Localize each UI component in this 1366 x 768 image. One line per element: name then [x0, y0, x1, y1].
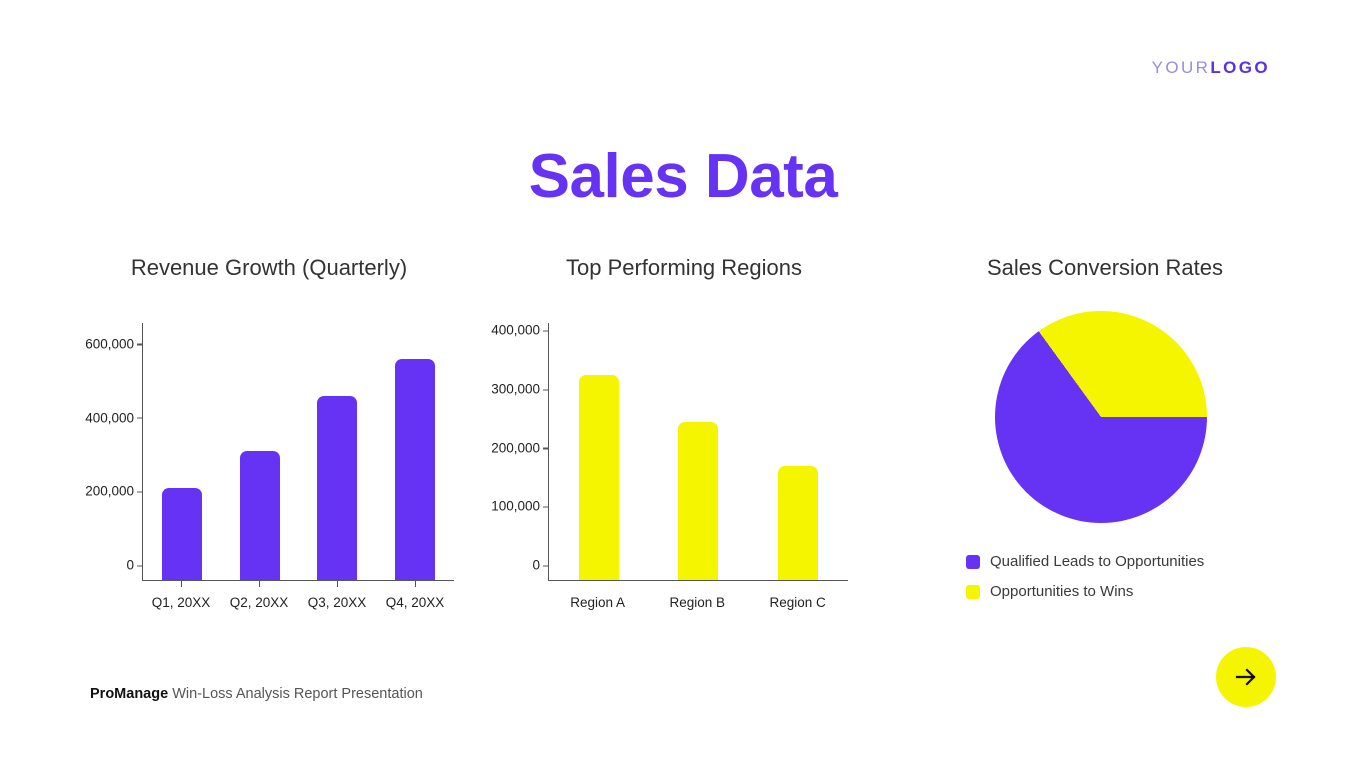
arrow-right-icon — [1233, 664, 1259, 690]
legend-swatch — [966, 585, 980, 599]
pie-slices — [995, 311, 1207, 523]
bar — [778, 466, 818, 580]
bar-series-revenue — [143, 323, 454, 580]
y-tick-label: 400,000 — [85, 410, 143, 425]
bar-chart-top-regions: 0100,000200,000300,000400,000 Region ARe… — [474, 323, 894, 623]
bar — [317, 396, 357, 580]
x-tick-label: Q2, 20XX — [230, 581, 289, 610]
y-tick-label: 100,000 — [491, 499, 549, 514]
chart-title-conversion-rates: Sales Conversion Rates — [930, 255, 1280, 281]
x-tick-label: Q4, 20XX — [386, 581, 445, 610]
page-title: Sales Data — [0, 141, 1366, 212]
x-axis-regions: Region ARegion BRegion C — [548, 581, 848, 610]
plot-area-revenue: 0200,000400,000600,000 — [142, 323, 454, 581]
bar-chart-revenue-growth: 0200,000400,000600,000 Q1, 20XXQ2, 20XXQ… — [54, 323, 484, 623]
y-tick-label: 0 — [126, 558, 143, 573]
bar — [162, 488, 202, 580]
y-tick-label: 600,000 — [85, 336, 143, 351]
y-tick-label: 200,000 — [85, 484, 143, 499]
legend-swatch — [966, 555, 980, 569]
bar-series-regions — [549, 323, 848, 580]
bar-column — [162, 323, 202, 580]
x-tick-label: Q3, 20XX — [308, 581, 367, 610]
chart-panel-top-regions: Top Performing Regions 0100,000200,00030… — [474, 255, 894, 623]
legend-item: Opportunities to Wins — [966, 583, 1204, 600]
y-tick-label: 200,000 — [491, 440, 549, 455]
chart-panel-revenue-growth: Revenue Growth (Quarterly) 0200,000400,0… — [54, 255, 484, 623]
bar-column — [678, 323, 718, 580]
bar — [579, 375, 619, 580]
y-tick-label: 400,000 — [491, 323, 549, 338]
chart-title-revenue-growth: Revenue Growth (Quarterly) — [54, 255, 484, 281]
x-axis-revenue: Q1, 20XXQ2, 20XXQ3, 20XXQ4, 20XX — [142, 581, 454, 610]
x-tick-label: Q1, 20XX — [152, 581, 211, 610]
y-tick-label: 300,000 — [491, 382, 549, 397]
bar-column — [579, 323, 619, 580]
legend-item: Qualified Leads to Opportunities — [966, 553, 1204, 570]
footer-brand: ProManage — [90, 686, 168, 702]
x-tick-label: Region B — [669, 581, 725, 610]
footer-text: Win-Loss Analysis Report Presentation — [168, 686, 423, 702]
slide: YOURLOGO Sales Data Revenue Growth (Quar… — [0, 0, 1366, 768]
bar-column — [778, 323, 818, 580]
bar — [678, 422, 718, 580]
bar-column — [317, 323, 357, 580]
pie-chart-conversion-rates — [930, 311, 1280, 526]
x-tick-label: Region A — [570, 581, 625, 610]
chart-panel-conversion-rates: Sales Conversion Rates Qualified Leads t… — [930, 255, 1280, 526]
bar-column — [240, 323, 280, 580]
next-slide-button[interactable] — [1216, 647, 1276, 707]
y-tick-label: 0 — [532, 558, 549, 573]
bar — [240, 451, 280, 580]
logo: YOURLOGO — [1152, 58, 1270, 78]
footer: ProManage Win-Loss Analysis Report Prese… — [90, 686, 423, 702]
bar — [395, 359, 435, 580]
legend-label: Opportunities to Wins — [990, 583, 1133, 600]
x-tick-label: Region C — [769, 581, 825, 610]
plot-area-regions: 0100,000200,000300,000400,000 — [548, 323, 848, 581]
logo-bold-text: LOGO — [1210, 58, 1270, 77]
legend-label: Qualified Leads to Opportunities — [990, 553, 1204, 570]
bar-column — [395, 323, 435, 580]
pie-legend: Qualified Leads to OpportunitiesOpportun… — [966, 553, 1204, 613]
chart-title-top-regions: Top Performing Regions — [474, 255, 894, 281]
logo-light-text: YOUR — [1152, 58, 1211, 77]
